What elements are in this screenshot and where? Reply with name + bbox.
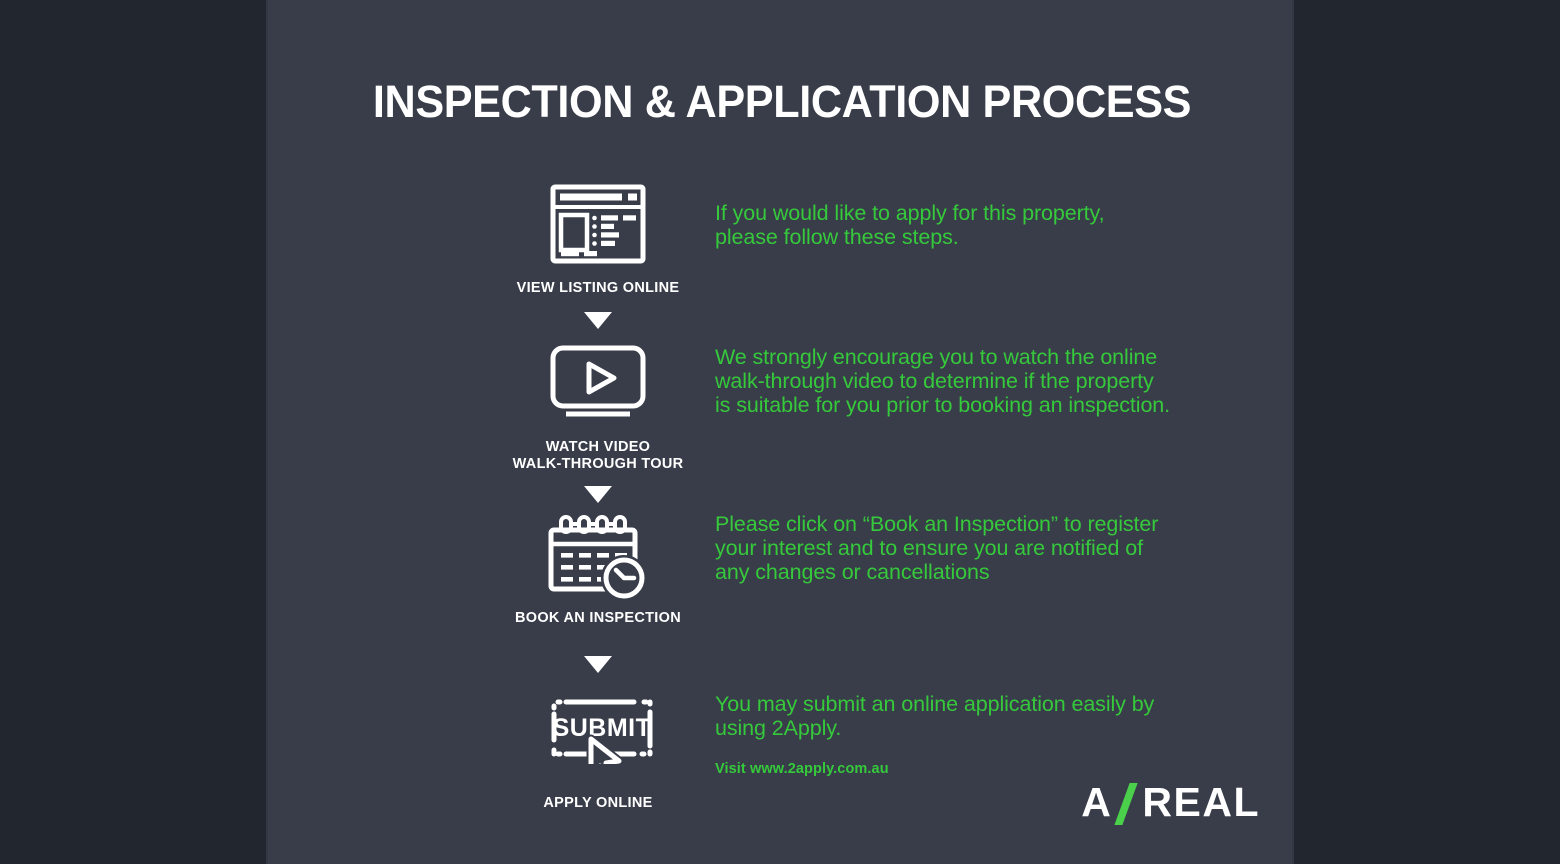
submit-icon-text: SUBMIT: [553, 714, 652, 742]
flow-arrow-1: [478, 312, 718, 329]
flow-arrow-2: [478, 486, 718, 503]
step-view-listing-online: VIEW LISTING ONLINE: [478, 178, 718, 297]
step-description-3: Please click on “Book an Inspection” to …: [715, 513, 1215, 584]
logo-text-left: A: [1081, 779, 1112, 826]
video-monitor-play-icon: [550, 345, 646, 421]
flow-arrow-3: [478, 656, 718, 673]
submit-cursor-icon: SUBMIT: [542, 694, 654, 764]
brand-logo: A REAL: [1081, 779, 1260, 826]
step-label: VIEW LISTING ONLINE: [478, 280, 718, 297]
listing-window-icon: [550, 184, 646, 264]
poster-canvas: INSPECTION & APPLICATION PROCESS: [0, 0, 1560, 864]
step-apply-online: SUBMIT APPLY ONLINE: [478, 683, 718, 812]
poster-panel: INSPECTION & APPLICATION PROCESS: [266, 0, 1294, 864]
listing-window-icon-box: [478, 178, 718, 270]
visit-2apply-link[interactable]: Visit www.2apply.com.au: [715, 761, 889, 777]
calendar-clock-icon: [548, 508, 648, 600]
step-book-inspection: BOOK AN INSPECTION: [478, 508, 718, 627]
logo-slash-icon: [1115, 781, 1141, 825]
video-monitor-play-icon-box: [478, 337, 718, 429]
logo-text-right: REAL: [1142, 779, 1260, 826]
step-label: APPLY ONLINE: [478, 795, 718, 812]
step-label: BOOK AN INSPECTION: [478, 610, 718, 627]
page-title: INSPECTION & APPLICATION PROCESS: [289, 76, 1276, 128]
calendar-clock-icon-box: [478, 508, 718, 600]
step-watch-video: WATCH VIDEO WALK-THROUGH TOUR: [478, 337, 718, 472]
step-description-1: If you would like to apply for this prop…: [715, 202, 1215, 250]
step-description-2: We strongly encourage you to watch the o…: [715, 346, 1215, 417]
step-label: WATCH VIDEO WALK-THROUGH TOUR: [478, 439, 718, 472]
submit-cursor-icon-box: SUBMIT: [478, 683, 718, 775]
step-description-4: You may submit an online application eas…: [715, 693, 1215, 741]
